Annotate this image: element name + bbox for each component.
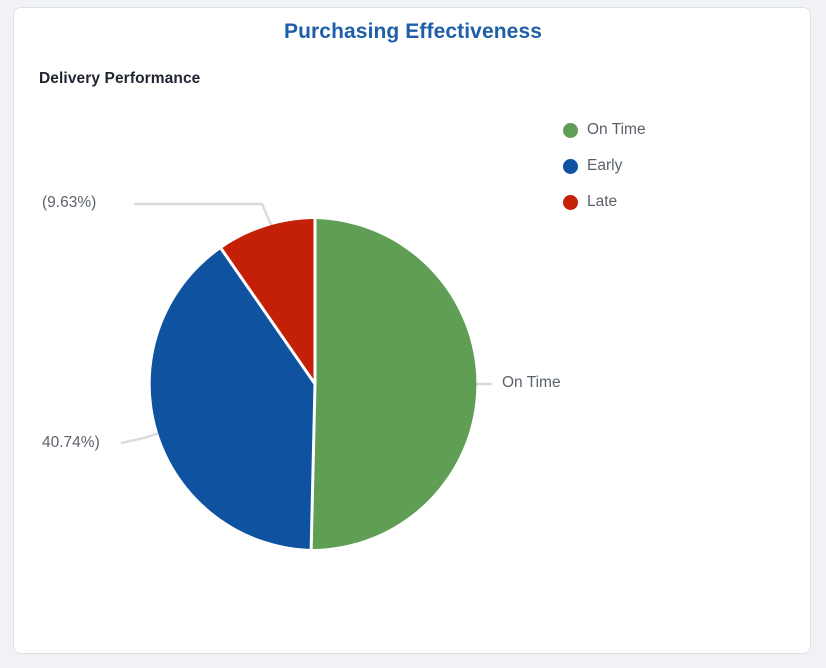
pie-label-late: (9.63%) bbox=[42, 194, 96, 212]
pie-label-early: 40.74%) bbox=[42, 434, 100, 452]
pie-chart-svg bbox=[14, 8, 811, 654]
pie-label-on-time: On Time bbox=[502, 374, 561, 392]
legend-swatch-on-time-icon bbox=[563, 123, 578, 138]
legend-swatch-early-icon bbox=[563, 159, 578, 174]
legend-item-early[interactable]: Early bbox=[563, 148, 763, 184]
chart-legend: On Time Early Late bbox=[563, 112, 763, 220]
legend-label-on-time: On Time bbox=[587, 121, 646, 139]
pie-chart-plot-area: (9.63%) 40.74%) On Time On Time Early La… bbox=[14, 8, 811, 654]
legend-label-early: Early bbox=[587, 157, 622, 175]
legend-item-on-time[interactable]: On Time bbox=[563, 112, 763, 148]
legend-item-late[interactable]: Late bbox=[563, 184, 763, 220]
legend-swatch-late-icon bbox=[563, 195, 578, 210]
legend-label-late: Late bbox=[587, 193, 617, 211]
pie-slice-on-time[interactable] bbox=[311, 219, 476, 549]
report-card: Purchasing Effectiveness Delivery Perfor… bbox=[13, 7, 811, 654]
app-root: Purchasing Effectiveness Delivery Perfor… bbox=[0, 0, 826, 668]
